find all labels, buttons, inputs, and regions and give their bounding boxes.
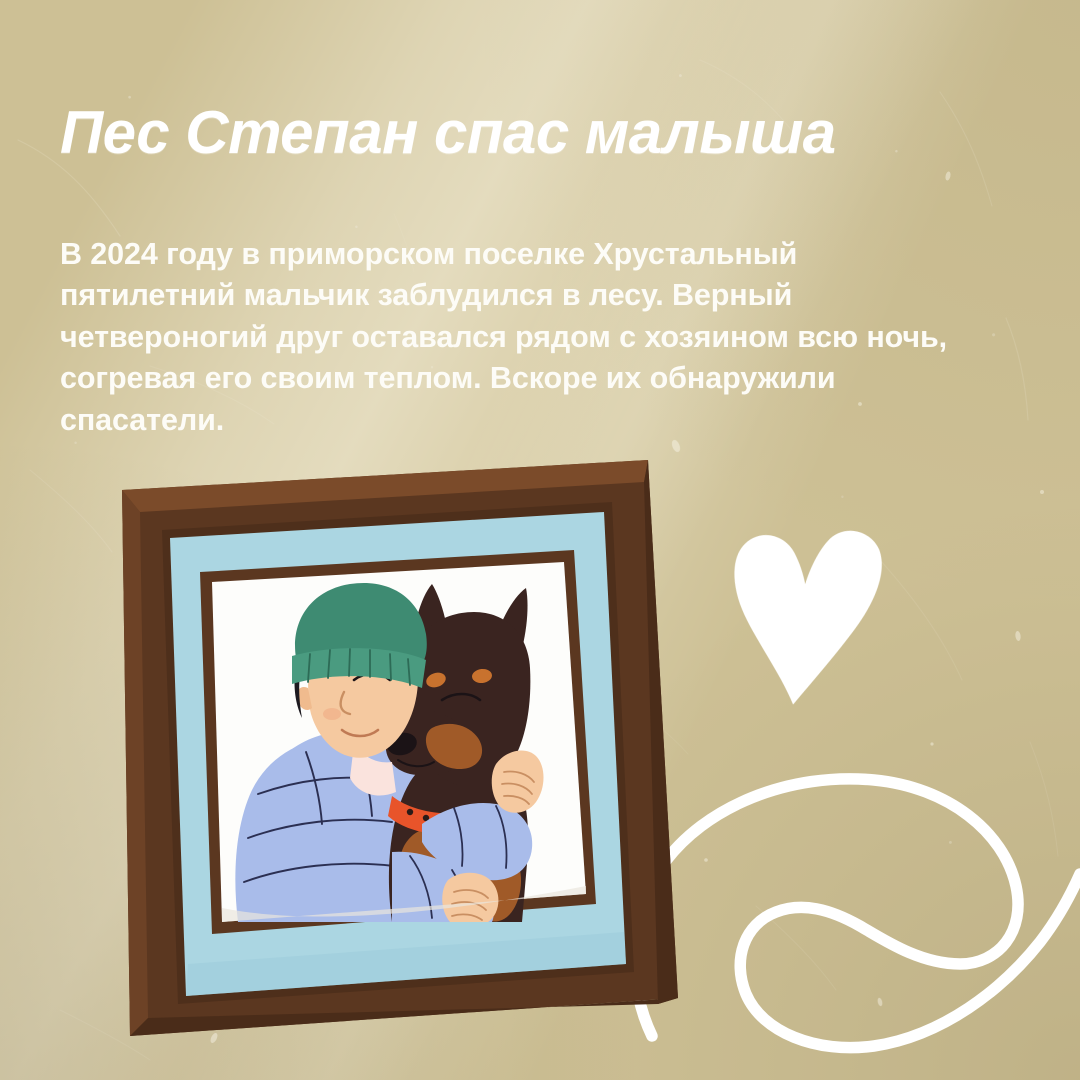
page-title: Пес Степан спас малыша: [60, 102, 1020, 164]
framed-photo-illustration: [92, 452, 682, 1052]
poster-canvas: Пес Степан спас малыша В 2024 году в при…: [0, 0, 1080, 1080]
story-paragraph: В 2024 году в приморском поселке Хрустал…: [60, 234, 965, 442]
heart-icon: [717, 517, 887, 714]
boy-blush: [323, 708, 341, 720]
